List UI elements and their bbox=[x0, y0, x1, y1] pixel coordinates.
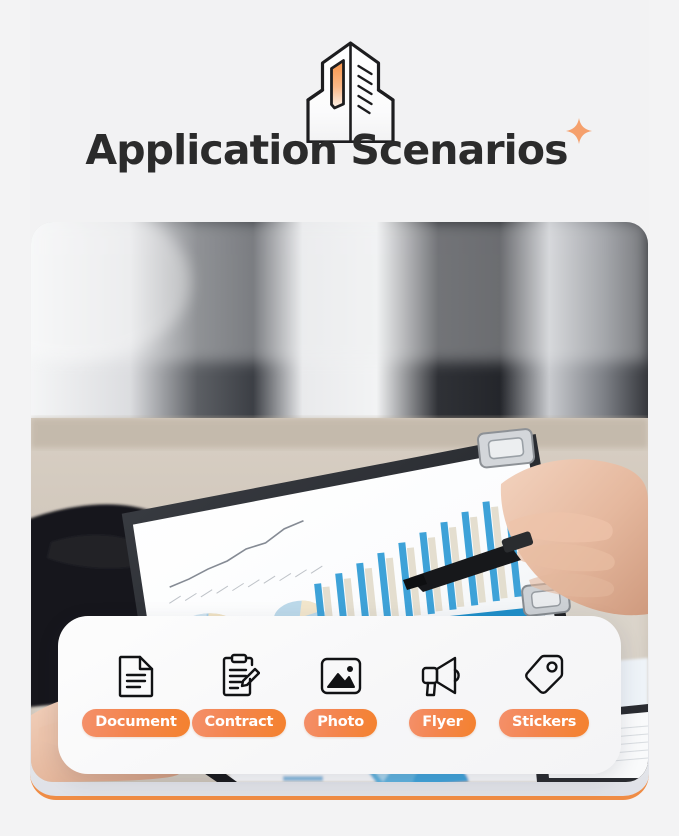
category-label-photo: Photo bbox=[304, 709, 377, 737]
category-label-contract: Contract bbox=[192, 709, 287, 737]
category-card: Document Contract Photo bbox=[58, 616, 621, 774]
category-item-contract[interactable]: Contract bbox=[188, 653, 290, 737]
category-label-stickers: Stickers bbox=[499, 709, 589, 737]
category-item-photo[interactable]: Photo bbox=[290, 653, 392, 737]
header: Application Scenarios bbox=[0, 0, 679, 210]
category-label-document: Document bbox=[82, 709, 190, 737]
sparkle-icon bbox=[564, 116, 594, 146]
megaphone-icon bbox=[419, 653, 465, 699]
category-item-flyer[interactable]: Flyer bbox=[392, 653, 494, 737]
page-title-row: Application Scenarios bbox=[0, 130, 679, 171]
category-item-stickers[interactable]: Stickers bbox=[493, 653, 595, 737]
image-icon bbox=[319, 653, 363, 699]
tag-icon bbox=[523, 653, 565, 699]
document-icon bbox=[116, 653, 156, 699]
clipboard-pen-icon bbox=[218, 653, 260, 699]
category-label-flyer: Flyer bbox=[409, 709, 475, 737]
category-item-document[interactable]: Document bbox=[84, 653, 188, 737]
page-title: Application Scenarios bbox=[85, 130, 567, 171]
